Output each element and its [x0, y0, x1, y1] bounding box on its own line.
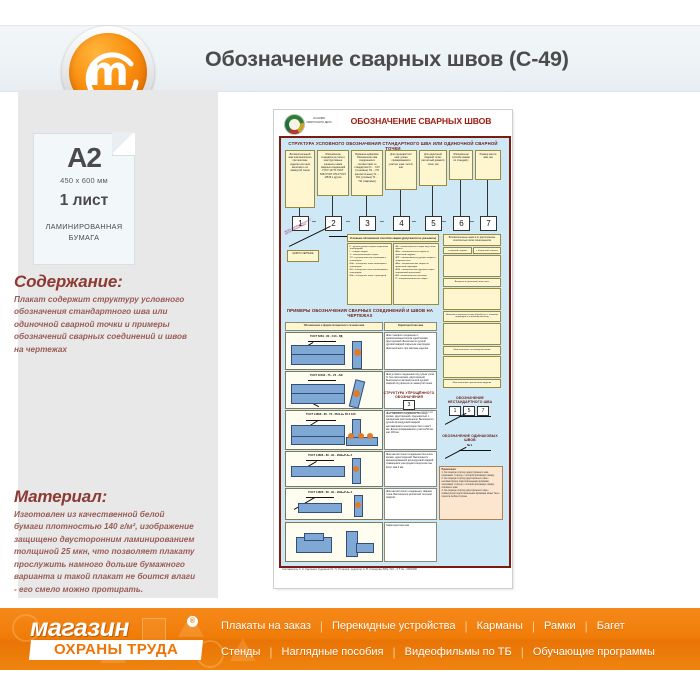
separator: | — [464, 619, 467, 633]
methods-right-list: АФ - автоматическая сварка под слоем флю… — [393, 243, 439, 305]
method-item: АФж - автоматическая сварка на флюсовой … — [396, 263, 429, 268]
dash-5: – — [442, 218, 446, 225]
aux-signs-heading: Вспомогательные знаки и их расположение … — [443, 234, 501, 246]
poster-emblem-icon — [284, 114, 305, 135]
format-spec-card: A2 450 x 600 мм 1 лист ЛАМИНИРОВАННАЯ БУ… — [33, 133, 135, 265]
structure-box-1: Вспомогательный знак шов выполнить при м… — [285, 150, 315, 208]
connector-2 — [332, 196, 333, 216]
aux-row-4-diagram — [443, 356, 501, 378]
banner-links: Плакаты на заказ | Перекидные устройства… — [212, 614, 692, 664]
notes-box: Примечания: 1. За лицевую сторону одност… — [439, 466, 503, 520]
format-dimensions: 450 x 600 мм — [34, 176, 134, 185]
nonstandard-num-1: 1 — [449, 406, 461, 416]
connector-5 — [432, 186, 433, 216]
aux-row-3-diagram — [443, 323, 501, 345]
identical-label: №1 — [467, 443, 472, 447]
content-body: Плакат содержит структуру условного обоз… — [14, 294, 196, 356]
method-item: АФш - автоматическая сварка по флюсовой … — [396, 251, 430, 256]
methods-heading: Условные обозначения способов сварки (до… — [347, 234, 439, 242]
note-item-3: 3. За лицевую сторону двустороннего шва … — [442, 490, 500, 498]
page-title: Обозначение сварных швов (С-49) — [205, 47, 569, 72]
aux-row-1-diagram — [443, 255, 501, 277]
aux-col-back: с оборотной стороны — [473, 247, 501, 254]
banner-link-posobiya[interactable]: Наглядные пособия — [273, 646, 393, 658]
identical-heading: ОБОЗНАЧЕНИЕ ОДИНАКОВЫХ ШВОВ — [439, 434, 501, 442]
method-item: П - полуавтоматическая сварка — [396, 278, 428, 280]
example-row-1-desc: Шов стыкового соединения с криволинейным… — [384, 332, 437, 370]
banner-link-karmany[interactable]: Карманы — [468, 620, 532, 632]
examples-col-header-1: Обозначение и форма поперечного сечения … — [285, 322, 383, 331]
nonstandard-heading: ОБОЗНАЧЕНИЕ НЕСТАНДАРТНОГО ШВА — [439, 396, 501, 404]
method-item: Р - ручная дуговая сварка покрытыми элек… — [350, 246, 388, 251]
poster-preview[interactable]: ОСНОВЫ СВАРОЧНОГО ДЕЛА ОБОЗНАЧЕНИЕ СВАРН… — [273, 109, 513, 589]
separator: | — [521, 645, 524, 659]
example-row-5-drawing: ГОСТ 14806 - 80 - Н1 - ИНΔ₅Р-Δ₅ 3 — [285, 488, 383, 520]
structure-box-6: Обозначение способа сварки по стандарту — [449, 150, 473, 180]
poster-header: ОСНОВЫ СВАРОЧНОГО ДЕЛА ОБОЗНАЧЕНИЕ СВАРН… — [274, 110, 512, 136]
method-item: ИНп - в инертных газах плавящимся электр… — [350, 263, 387, 268]
banner-link-baget[interactable]: Багет — [588, 620, 634, 632]
format-label: A2 — [34, 142, 134, 174]
shop-logo[interactable]: магазин ® ОХРАНЫ ТРУДА — [14, 614, 204, 664]
notes-heading: Примечания: — [442, 469, 457, 471]
aux-col-front: с лицевой стороны — [443, 247, 472, 254]
note-item-1: 1. За лицевую сторону одностороннего шва… — [442, 472, 495, 477]
method-item: ИНп - в инертных газах с присадкой — [350, 275, 387, 277]
poster-title: ОБОЗНАЧЕНИЕ СВАРНЫХ ШВОВ — [336, 116, 506, 126]
connector-7 — [487, 180, 488, 216]
example-row-4-desc: Шов нахлёсточного соединения без скоса к… — [384, 451, 437, 487]
example-gost-5: ГОСТ 14806 - 80 - Н1 - ИНΔ₅Р-Δ₅ 3 — [308, 491, 352, 494]
examples-col-header-2: Характеристика шва — [384, 322, 437, 331]
bottom-diagram-left — [285, 522, 383, 562]
separator: | — [585, 619, 588, 633]
separator: | — [393, 645, 396, 659]
shov-na-chertezhe-label: ШОВ НА ЧЕРТЕЖЕ — [287, 250, 319, 262]
content-heading: Содержание: — [14, 272, 123, 292]
aux-row-2-diagram — [443, 288, 501, 310]
dash-4: – — [412, 218, 416, 225]
method-item: ИН - в инертных газах неплавящимся элект… — [350, 269, 388, 274]
dash-2: – — [346, 218, 350, 225]
number-box-7: 7 — [480, 216, 497, 231]
registered-mark-icon: ® — [187, 616, 198, 627]
example-gost-1: ГОСТ 5264 - 80 - С13 - РД — [310, 335, 342, 338]
connector-4 — [400, 190, 401, 216]
dash-3: – — [380, 218, 384, 225]
banner-link-programmy[interactable]: Обучающие программы — [524, 646, 664, 658]
nonstandard-num-3: 7 — [477, 406, 489, 416]
connector-3 — [366, 196, 367, 216]
number-box-4: 4 — [393, 216, 410, 231]
nonstandard-num-2: 5 — [463, 406, 475, 416]
structure-box-5: Для одиночной сварной точки: расчётный д… — [419, 150, 447, 186]
method-item: АН - автоматическая наплавка — [396, 275, 427, 277]
method-item: Г - газовая сварка — [350, 251, 368, 253]
example-row-1-drawing: ГОСТ 5264 - 80 - С13 - РД — [285, 332, 383, 370]
methods-left-list: Р - ручная дуговая сварка покрытыми элек… — [347, 243, 392, 305]
method-item: З - электрошлаковая сварка — [350, 254, 379, 256]
example-gost-4: ГОСТ 14806 - 80 - Н1 - ИНΔ₅Р-Δ₅ 3 — [308, 454, 352, 457]
method-item: УП - в углекислом газе плавящимся электр… — [350, 257, 386, 262]
dash-6: – — [470, 218, 474, 225]
connector-6 — [460, 180, 461, 216]
simplified-note: 3 - обозначение в соответствии с ГОСТ 2.… — [385, 410, 435, 420]
bottom-diagram-desc: Характеристика шва — [384, 522, 437, 562]
simplified-heading: СТРУКТУРА УПРОЩЁННОГО ОБОЗНАЧЕНИЯ — [381, 391, 437, 399]
separator: | — [269, 645, 272, 659]
banner-link-perekidnye[interactable]: Перекидные устройства — [323, 620, 464, 632]
method-item: АФ - автоматическая сварка под слоем флю… — [396, 246, 436, 251]
method-item: АПГ - автоматическая дуговая сварка в за… — [396, 257, 436, 262]
examples-heading: ПРИМЕРЫ ОБОЗНАЧЕНИЯ СВАРНЫХ СОЕДИНЕНИЙ И… — [285, 308, 435, 318]
banner-link-videofilmy[interactable]: Видеофильмы по ТБ — [396, 646, 521, 658]
material-heading: Материал: — [14, 487, 107, 507]
structure-box-7: Размер катета шва, мм — [475, 150, 501, 180]
banner-link-stendy[interactable]: Стенды — [212, 646, 269, 658]
number-box-2: 2 — [325, 216, 342, 231]
aux-row-3-label: Шов выполнить по замкнутой линии — [443, 346, 501, 355]
banner-link-plakaty[interactable]: Плакаты на заказ — [212, 620, 320, 632]
number-box-6: 6 — [453, 216, 470, 231]
material-type-label: ЛАМИНИРОВАННАЯ БУМАГА — [34, 222, 134, 243]
material-body: Изготовлен из качественной белой бумаги … — [14, 509, 196, 596]
simplified-number-box: 3 — [403, 400, 415, 410]
banner-links-row-1: Плакаты на заказ | Перекидные устройства… — [212, 614, 692, 638]
connector-1 — [299, 208, 300, 216]
example-row-2-drawing: ГОСТ 11533 - 75 - У2 - АФ — [285, 371, 383, 409]
poster-frame: СТРУКТУРА УСЛОВНОГО ОБОЗНАЧЕНИЯ СТАНДАРТ… — [279, 136, 511, 568]
note-item-2: 2. За лицевую сторону двустороннего шва … — [442, 478, 495, 489]
poster-credits: Составитель А. А. Карпенко Художник Ю. П… — [282, 568, 482, 572]
shop-logo-line1: магазин — [30, 614, 129, 643]
shop-banner: магазин ® ОХРАНЫ ТРУДА Плакаты на заказ … — [0, 608, 700, 670]
banner-link-ramki[interactable]: Рамки — [535, 620, 585, 632]
number-box-3: 3 — [359, 216, 376, 231]
example-gost-3: ГОСТ 14806 - 80 - Т3 - РНЗ-Δ₅ 50 Z 100 — [306, 413, 355, 416]
separator: | — [320, 619, 323, 633]
aux-row-4-label: Шов выполнить при монтаже изделия — [443, 379, 501, 388]
aux-row-2-label: Наплывы и неровности шва обработать с пл… — [443, 311, 501, 322]
page-root: m Обозначение сварных швов (С-49) A2 450… — [0, 0, 700, 700]
example-row-5-desc: Шов нахлёсточного соединения, сварная то… — [384, 488, 437, 520]
structure-box-4: Для прерывистого шва: длина провариваемо… — [385, 150, 417, 190]
separator: | — [532, 619, 535, 633]
example-row-3-drawing: ГОСТ 14806 - 80 - Т3 - РНЗ-Δ₅ 50 Z 100 — [285, 410, 383, 450]
example-gost-2: ГОСТ 11533 - 75 - У2 - АФ — [310, 374, 343, 377]
method-item: АПФ - автоматическая дуговая сварка поро… — [396, 269, 435, 274]
number-box-5: 5 — [425, 216, 442, 231]
sheet-count: 1 лист — [34, 192, 134, 210]
aux-row-1-label: Выпуклость (усиление) шва снять — [443, 278, 501, 287]
shop-logo-line2: ОХРАНЫ ТРУДА — [29, 640, 203, 660]
example-row-4-drawing: ГОСТ 14806 - 80 - Н1 - ИНΔ₅Р-Δ₅ 3 — [285, 451, 383, 487]
banner-links-row-2: Стенды | Наглядные пособия | Видеофильмы… — [212, 640, 692, 664]
shop-logo-line2-text: ОХРАНЫ ТРУДА — [54, 641, 178, 658]
poster-emblem-text: ОСНОВЫ СВАРОЧНОГО ДЕЛА — [306, 117, 332, 125]
structure-box-2: Обозначение стандарта на типы и конструк… — [317, 150, 349, 196]
structure-box-3: Буквенно-цифровое обозначение шва соедин… — [351, 150, 383, 196]
